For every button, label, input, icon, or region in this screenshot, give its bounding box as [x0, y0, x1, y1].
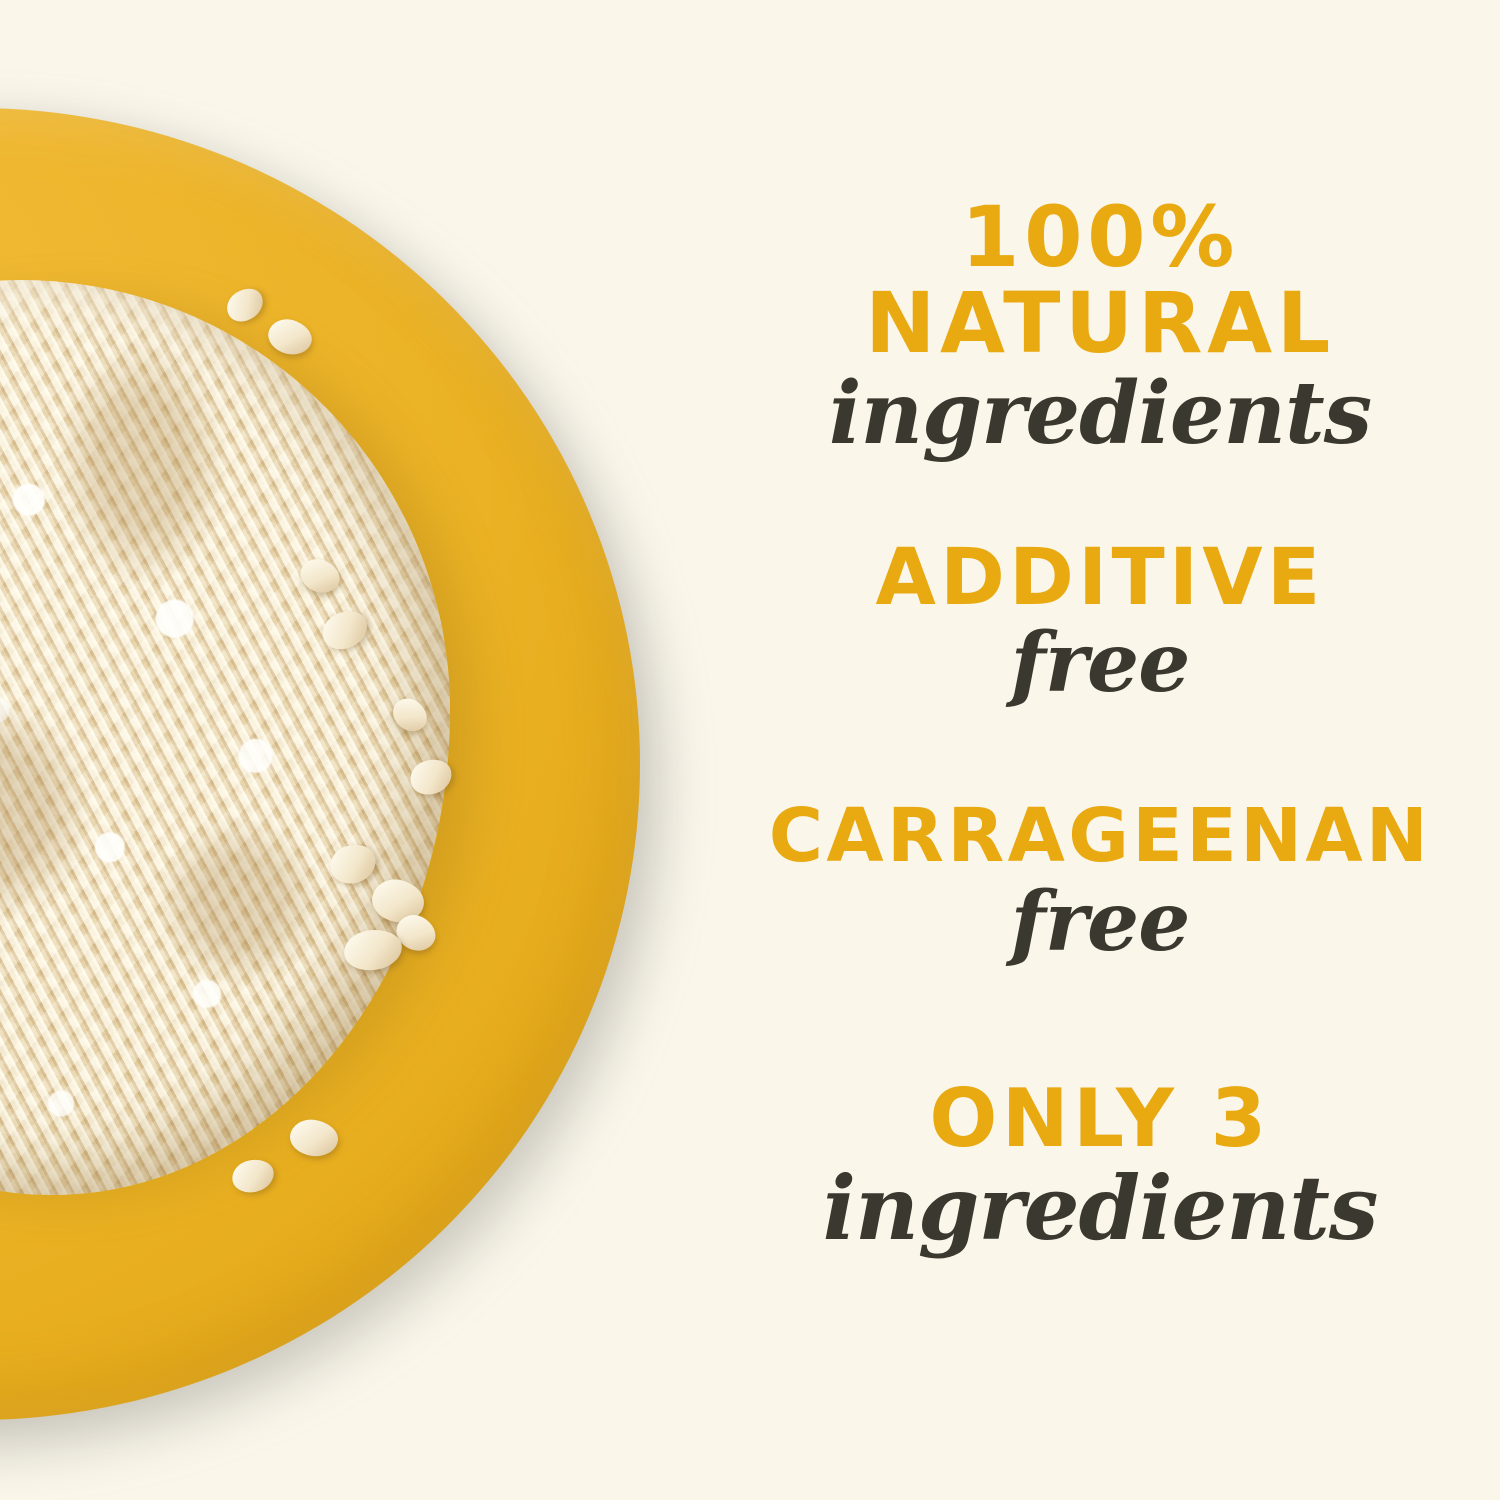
benefit-headline: ADDITIVE	[700, 540, 1500, 616]
benefit-headline-line1: 100%	[961, 188, 1239, 286]
benefit-carrageenan-free: CARRAGEENAN free	[700, 800, 1500, 963]
benefit-script: ingredients	[700, 1164, 1500, 1252]
benefit-additive-free: ADDITIVE free	[700, 540, 1500, 704]
benefit-headline: ONLY 3	[700, 1080, 1500, 1158]
shredded-chicken-rice-mound	[0, 280, 450, 1195]
benefit-headline: 100% NATURAL	[700, 196, 1500, 365]
benefit-headline: CARRAGEENAN	[700, 800, 1500, 873]
benefit-only-3-ingredients: ONLY 3 ingredients	[700, 1080, 1500, 1252]
benefit-headline-line2: NATURAL	[700, 282, 1500, 364]
product-photo	[0, 0, 760, 1500]
benefit-natural-ingredients: 100% NATURAL ingredients	[700, 196, 1500, 457]
benefit-script: free	[700, 881, 1500, 963]
benefits-list: 100% NATURAL ingredients ADDITIVE free C…	[700, 0, 1500, 1500]
product-benefits-panel: 100% NATURAL ingredients ADDITIVE free C…	[0, 0, 1500, 1500]
benefit-script: free	[700, 622, 1500, 704]
benefit-script: ingredients	[700, 371, 1500, 457]
